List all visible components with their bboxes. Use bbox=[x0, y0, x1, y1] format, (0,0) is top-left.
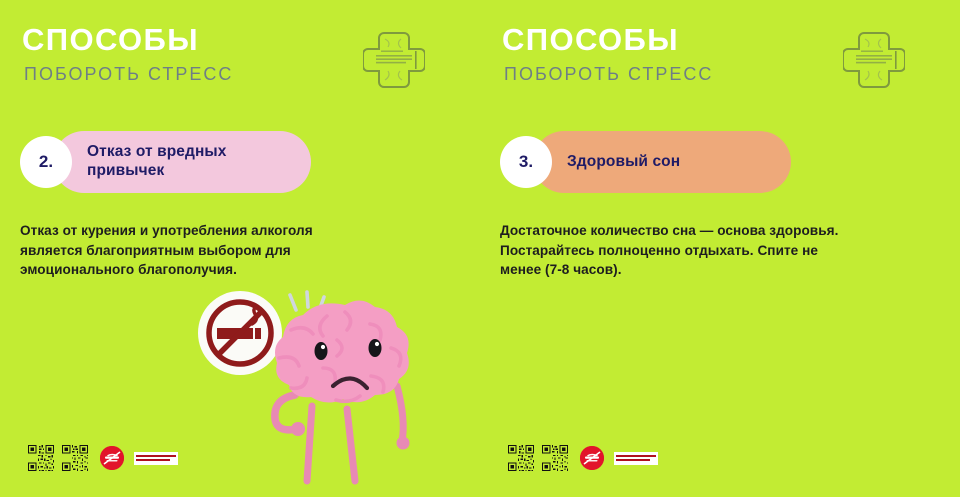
step-pill-3[interactable]: Здоровый сон bbox=[533, 131, 791, 193]
page-title: СПОСОБЫ bbox=[22, 24, 233, 55]
step-label: Отказ от вредных привычек bbox=[87, 143, 301, 181]
step-number-badge: 3. bbox=[500, 136, 552, 188]
qr-code-1[interactable] bbox=[508, 445, 534, 471]
header-right: СПОСОБЫ ПОБОРОТЬ СТРЕСС bbox=[502, 24, 713, 83]
medical-cross-logo bbox=[843, 31, 905, 89]
qr-code-2[interactable] bbox=[62, 445, 88, 471]
brain-arm-right bbox=[397, 386, 403, 441]
panel-right: СПОСОБЫ ПОБОРОТЬ СТРЕСС Здоровый bbox=[480, 0, 960, 497]
body-paragraph: Отказ от курения и употребления алкоголя… bbox=[20, 221, 435, 280]
page-title: СПОСОБЫ bbox=[502, 24, 713, 55]
step-pill-2[interactable]: Отказ от вредных привычек bbox=[53, 131, 311, 193]
footer-left bbox=[28, 445, 178, 471]
sad-brain-character bbox=[275, 300, 409, 402]
brain-legs bbox=[307, 406, 355, 481]
brain-eye-left bbox=[315, 342, 328, 360]
footer-right bbox=[508, 445, 658, 471]
step-label: Здоровый сон bbox=[567, 153, 680, 172]
brain-eye-right bbox=[369, 339, 382, 357]
slide-canvas: СПОСОБЫ ПОБОРОТЬ СТРЕСС Отказ от bbox=[0, 0, 960, 497]
page-subtitle: ПОБОРОТЬ СТРЕСС bbox=[504, 65, 713, 83]
page-subtitle: ПОБОРОТЬ СТРЕСС bbox=[24, 65, 233, 83]
step-number-badge: 2. bbox=[20, 136, 72, 188]
qr-code-1[interactable] bbox=[28, 445, 54, 471]
sad-brain-no-smoking-illustration bbox=[195, 288, 475, 488]
body-paragraph: Достаточное количество сна — основа здор… bbox=[500, 221, 915, 280]
micro-text-label bbox=[614, 452, 658, 465]
micro-text-label bbox=[134, 452, 178, 465]
red-round-badge[interactable] bbox=[580, 446, 604, 470]
no-smoking-sign-icon bbox=[198, 291, 282, 375]
red-round-badge[interactable] bbox=[100, 446, 124, 470]
qr-code-2[interactable] bbox=[542, 445, 568, 471]
medical-cross-logo bbox=[363, 31, 425, 89]
header-left: СПОСОБЫ ПОБОРОТЬ СТРЕСС bbox=[22, 24, 233, 83]
panel-left: СПОСОБЫ ПОБОРОТЬ СТРЕСС Отказ от bbox=[0, 0, 480, 497]
